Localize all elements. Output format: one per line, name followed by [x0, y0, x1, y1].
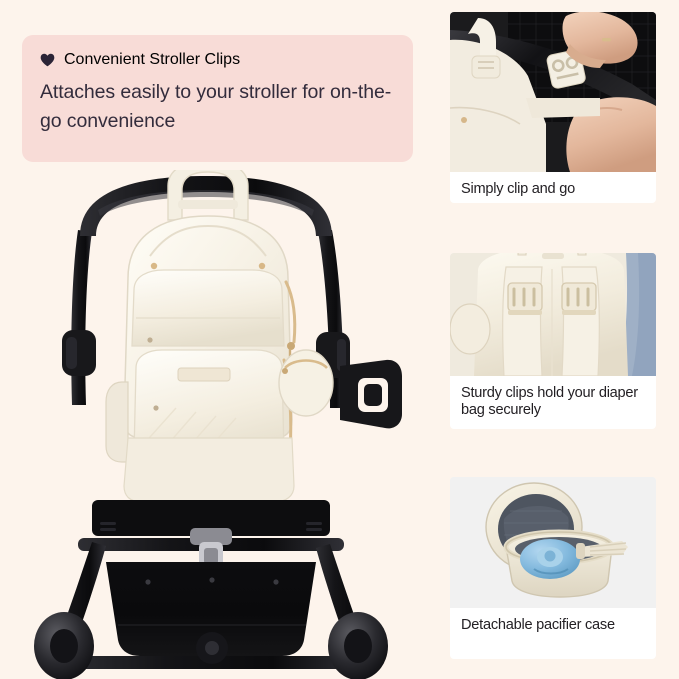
feature-card-pacifier-case[interactable]: Detachable pacifier case	[450, 477, 656, 659]
bag-back-with-clips-illustration	[450, 253, 656, 376]
pacifier-case-illustration	[450, 477, 656, 608]
feature-card-sturdy-clips[interactable]: Sturdy clips hold your diaper bag secure…	[450, 253, 656, 429]
callout-title: Convenient Stroller Clips	[64, 51, 240, 69]
feature-cards-column: Simply clip and go	[450, 0, 679, 679]
hero-product-photo	[0, 170, 440, 679]
left-column: Convenient Stroller Clips Attaches easil…	[0, 0, 440, 679]
card-caption-pacifier-case: Detachable pacifier case	[450, 608, 656, 643]
card-photo-pacifier-case	[450, 477, 656, 608]
card-caption-clip-and-go: Simply clip and go	[450, 172, 656, 203]
feature-callout-box: Convenient Stroller Clips Attaches easil…	[22, 35, 413, 162]
card-photo-clip-and-go	[450, 12, 656, 172]
callout-subtitle: Attaches easily to your stroller for on-…	[40, 78, 393, 136]
feature-card-clip-and-go[interactable]: Simply clip and go	[450, 12, 656, 203]
callout-title-row: Convenient Stroller Clips	[40, 51, 393, 69]
stroller-with-diaper-bag-illustration	[0, 170, 440, 679]
card-caption-sturdy-clips: Sturdy clips hold your diaper bag secure…	[450, 376, 656, 428]
heart-icon	[40, 53, 55, 67]
card-photo-sturdy-clips	[450, 253, 656, 376]
hand-clipping-bag-illustration	[450, 12, 656, 172]
